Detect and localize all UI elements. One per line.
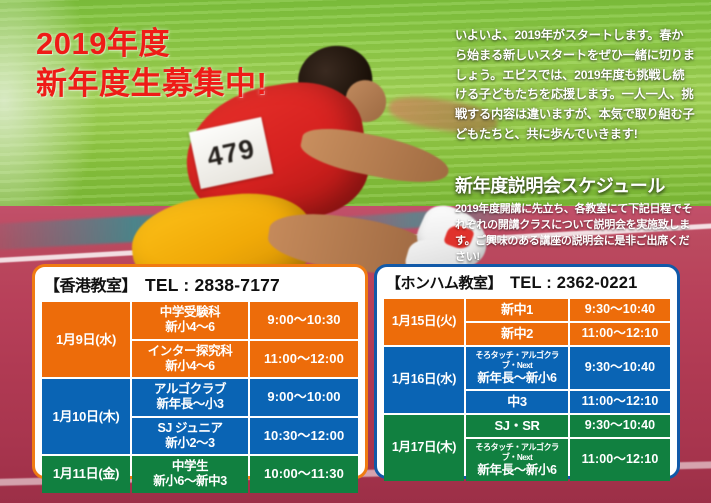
course-name: SJ ジュニア (157, 421, 222, 435)
schedule-table-hongkong: 1月9日(水)中学受験科新小4〜69:00〜10:30インター探究科新小4〜61… (40, 300, 360, 495)
cell-date: 1月9日(水) (42, 302, 130, 377)
course-name-small: そろタッチ・アルゴクラブ・Next (470, 442, 563, 463)
course-grade-range: 新小4〜6 (134, 359, 246, 374)
classroom-telephone[interactable]: TEL : 2362-0221 (510, 274, 637, 293)
classroom-telephone[interactable]: TEL : 2838-7177 (145, 275, 280, 296)
cell-time: 10:30〜12:00 (250, 418, 358, 455)
table-row: 1月10日(木)アルゴクラブ新年長〜小39:00〜10:00 (42, 379, 358, 416)
cell-time: 11:00〜12:00 (250, 341, 358, 378)
cell-course: 中学生新小6〜新中3 (132, 456, 248, 493)
page-title: 2019年度 新年度生募集中! (36, 24, 267, 103)
cell-course: 中学受験科新小4〜6 (132, 302, 248, 339)
course-name: インター探究科 (148, 344, 233, 358)
course-grade-range: 新年長〜新小6 (468, 371, 566, 386)
classroom-card-hunghom: 【ホンハム教室】 TEL : 2362-0221 1月15日(火)新中19:30… (374, 264, 680, 479)
course-name: 新中1 (501, 302, 533, 317)
card-header: 【ホンハム教室】 TEL : 2362-0221 (377, 267, 677, 297)
cell-date: 1月15日(火) (384, 299, 464, 345)
cell-course: そろタッチ・アルゴクラブ・Next新年長〜新小6 (466, 347, 568, 389)
schedule-table-body: 1月15日(火)新中19:30〜10:40新中211:00〜12:101月16日… (384, 299, 670, 481)
schedule-table-hunghom: 1月15日(火)新中19:30〜10:40新中211:00〜12:101月16日… (382, 297, 672, 483)
intro-paragraph: いよいよ、2019年がスタートします。春から始まる新しいスタートをぜひ一緒に切り… (455, 26, 695, 145)
cell-time: 9:30〜10:40 (570, 299, 670, 321)
course-name: アルゴクラブ (154, 382, 226, 396)
cell-date: 1月16日(水) (384, 347, 464, 413)
cell-time: 9:00〜10:30 (250, 302, 358, 339)
table-row: 1月15日(火)新中19:30〜10:40 (384, 299, 670, 321)
cell-course: 新中2 (466, 323, 568, 345)
cell-date: 1月10日(木) (42, 379, 130, 454)
cell-time: 11:00〜12:10 (570, 439, 670, 481)
cell-date: 1月17日(木) (384, 415, 464, 481)
classroom-name: 【ホンハム教室】 (386, 272, 502, 293)
cell-time: 9:30〜10:40 (570, 415, 670, 437)
cell-time: 11:00〜12:10 (570, 391, 670, 413)
cell-date: 1月11日(金) (42, 456, 130, 493)
card-header: 【香港教室】 TEL : 2838-7177 (35, 267, 365, 300)
table-row: 1月17日(木)SJ・SR9:30〜10:40 (384, 415, 670, 437)
cell-time: 9:30〜10:40 (570, 347, 670, 389)
course-name-small: そろタッチ・アルゴクラブ・Next (470, 350, 563, 371)
cell-time: 11:00〜12:10 (570, 323, 670, 345)
course-grade-range: 新小4〜6 (134, 320, 246, 335)
classroom-card-hongkong: 【香港教室】 TEL : 2838-7177 1月9日(水)中学受験科新小4〜6… (32, 264, 368, 479)
course-grade-range: 新小6〜新中3 (134, 474, 246, 489)
table-row: 1月9日(水)中学受験科新小4〜69:00〜10:30 (42, 302, 358, 339)
schedule-heading-block: 新年度説明会スケジュール 2019年度開講に先立ち、各教室にて下記日程でそれぞれ… (455, 172, 695, 266)
schedule-description: 2019年度開講に先立ち、各教室にて下記日程でそれぞれの開講クラスについて説明会… (455, 202, 695, 266)
cell-course: インター探究科新小4〜6 (132, 341, 248, 378)
headline-line-1: 2019年度 (36, 24, 267, 64)
cell-course: 中3 (466, 391, 568, 413)
cell-course: SJ・SR (466, 415, 568, 437)
course-grade-range: 新年長〜小3 (134, 397, 246, 412)
flyer-poster: 479 2019年度 新年度生募集中! いよいよ、2019年がスタートします。春… (0, 0, 711, 503)
classroom-name: 【香港教室】 (44, 272, 137, 296)
headline-line-2: 新年度生募集中! (36, 64, 267, 104)
course-grade-range: 新小2〜3 (134, 436, 246, 451)
course-grade-range: 新年長〜新小6 (468, 463, 566, 478)
schedule-title: 新年度説明会スケジュール (455, 172, 695, 198)
schedule-table-body: 1月9日(水)中学受験科新小4〜69:00〜10:30インター探究科新小4〜61… (42, 302, 358, 493)
cell-time: 10:00〜11:30 (250, 456, 358, 493)
cell-course: 新中1 (466, 299, 568, 321)
course-name: SJ・SR (495, 418, 540, 433)
cell-course: SJ ジュニア新小2〜3 (132, 418, 248, 455)
table-row: 1月16日(水)そろタッチ・アルゴクラブ・Next新年長〜新小69:30〜10:… (384, 347, 670, 389)
cell-course: アルゴクラブ新年長〜小3 (132, 379, 248, 416)
cell-time: 9:00〜10:00 (250, 379, 358, 416)
course-name: 中学受験科 (160, 305, 221, 319)
course-name: 中3 (507, 394, 526, 409)
course-name: 中学生 (172, 459, 208, 473)
cell-course: そろタッチ・アルゴクラブ・Next新年長〜新小6 (466, 439, 568, 481)
table-row: 1月11日(金)中学生新小6〜新中310:00〜11:30 (42, 456, 358, 493)
course-name: 新中2 (501, 326, 533, 341)
